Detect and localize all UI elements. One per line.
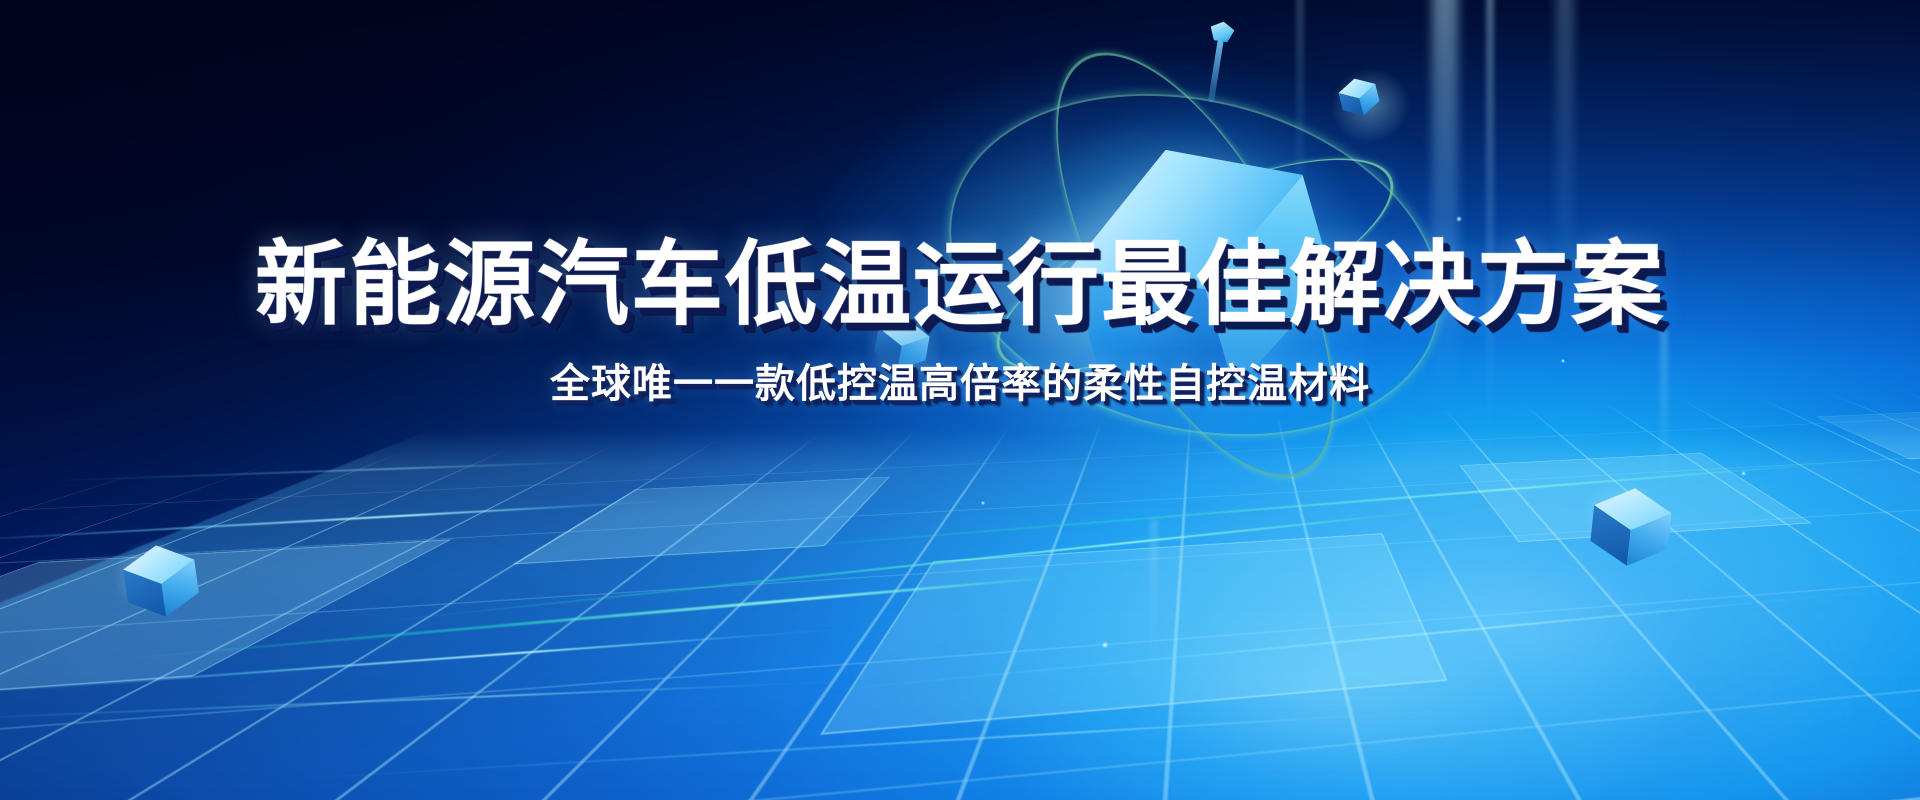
vignette-overlay: [0, 0, 1920, 800]
hero-banner: 新能源汽车低温运行最佳解决方案 全球唯一一款低控温高倍率的柔性自控温材料: [0, 0, 1920, 800]
